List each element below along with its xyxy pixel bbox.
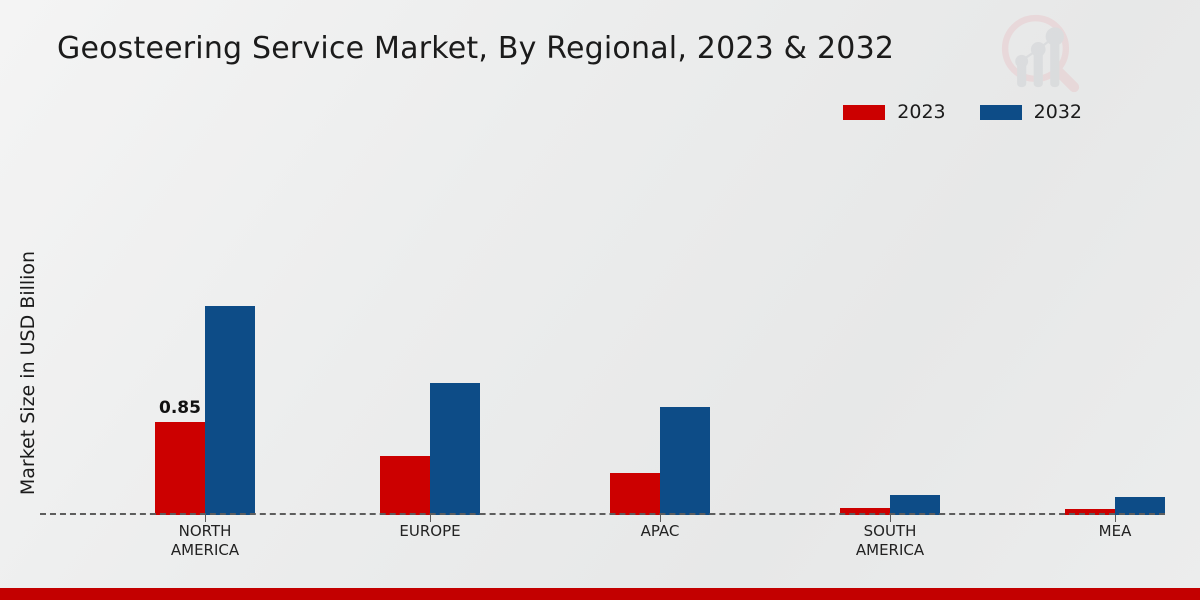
- bars-mea: [1065, 150, 1165, 515]
- tick-europe: [430, 515, 431, 522]
- bar-group-south-america: SOUTH AMERICA: [790, 150, 990, 515]
- legend-label-2032: 2032: [1034, 103, 1082, 122]
- bar-group-apac: APAC: [560, 150, 760, 515]
- category-label-line1: NORTH: [105, 522, 305, 541]
- bar-group-europe: EUROPE: [330, 150, 530, 515]
- tick-north-america: [205, 515, 206, 522]
- bars-south-america: [840, 150, 940, 515]
- x-axis-baseline: [40, 513, 1165, 515]
- category-label-line1: SOUTH: [790, 522, 990, 541]
- bar-2032-south-america[interactable]: [890, 495, 940, 515]
- bar-2023-apac[interactable]: [610, 473, 660, 515]
- bar-2023-north-america[interactable]: 0.85: [155, 422, 205, 515]
- tick-apac: [660, 515, 661, 522]
- category-label-line1: MEA: [1015, 522, 1200, 541]
- chart-legend: 2023 2032: [843, 103, 1082, 122]
- legend-item-2023[interactable]: 2023: [843, 103, 945, 122]
- watermark-logo-icon: [995, 8, 1087, 100]
- bar-2032-apac[interactable]: [660, 407, 710, 515]
- bars-apac: [610, 150, 710, 515]
- chart-figure: Geosteering Service Market, By Regional,…: [0, 0, 1200, 600]
- category-label-line2: AMERICA: [105, 541, 305, 560]
- category-label-line2: AMERICA: [790, 541, 990, 560]
- bar-group-north-america: 0.85 NORTH AMERICA: [105, 150, 305, 515]
- bars-europe: [380, 150, 480, 515]
- category-label-europe: EUROPE: [330, 522, 530, 541]
- legend-swatch-2032: [980, 105, 1022, 120]
- tick-south-america: [890, 515, 891, 522]
- tick-mea: [1115, 515, 1116, 522]
- category-label-south-america: SOUTH AMERICA: [790, 522, 990, 560]
- category-label-line1: APAC: [560, 522, 760, 541]
- category-label-line1: EUROPE: [330, 522, 530, 541]
- bar-2023-europe[interactable]: [380, 456, 430, 515]
- bar-group-mea: MEA: [1015, 150, 1200, 515]
- chart-title: Geosteering Service Market, By Regional,…: [57, 31, 894, 66]
- bar-2032-north-america[interactable]: [205, 306, 255, 515]
- category-label-mea: MEA: [1015, 522, 1200, 541]
- legend-label-2023: 2023: [897, 103, 945, 122]
- plot-area: 0.85 NORTH AMERICA EUROPE: [40, 150, 1165, 515]
- bars-north-america: 0.85: [155, 150, 255, 515]
- bar-value-north-america-2023: 0.85: [159, 398, 201, 418]
- bar-2032-europe[interactable]: [430, 383, 480, 515]
- legend-item-2032[interactable]: 2032: [980, 103, 1082, 122]
- category-label-north-america: NORTH AMERICA: [105, 522, 305, 560]
- footer-accent-bar: [0, 588, 1200, 600]
- category-label-apac: APAC: [560, 522, 760, 541]
- y-axis-title: Market Size in USD Billion: [17, 208, 39, 538]
- legend-swatch-2023: [843, 105, 885, 120]
